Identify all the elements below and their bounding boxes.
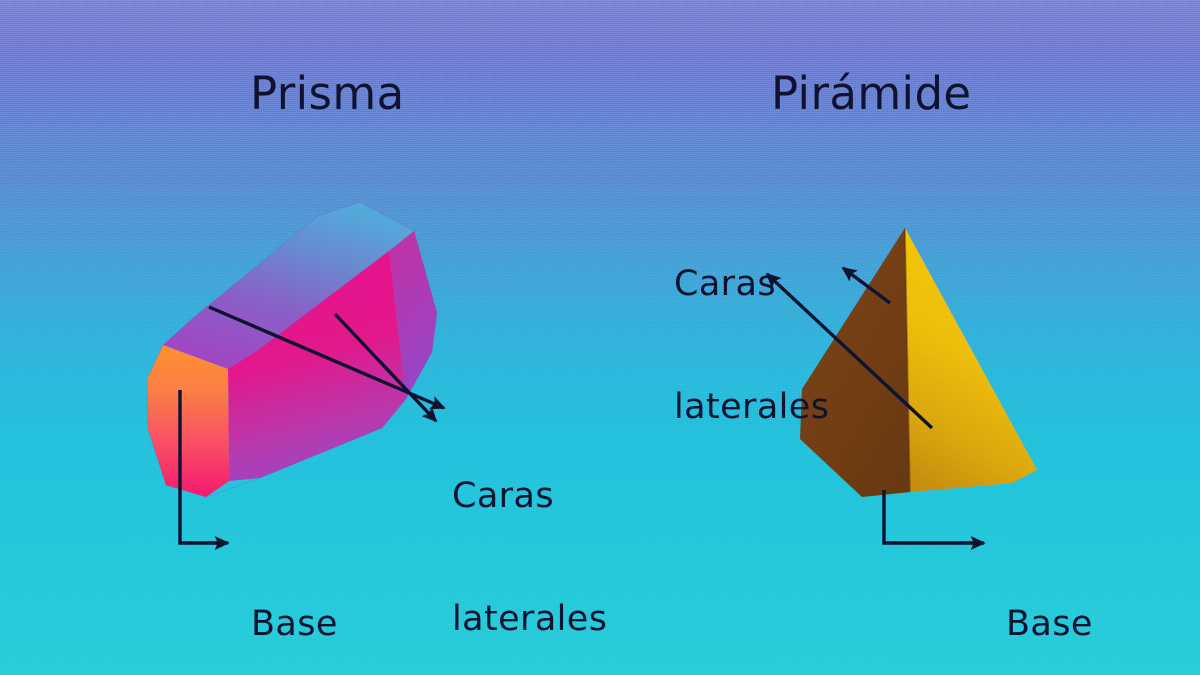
pyramid-caras-line-2: laterales [674,387,829,428]
diagram-canvas: Prisma Pirámide Caras laterales Base Car… [0,0,1200,675]
pyramid-right-face-grain [905,228,1037,492]
page-title-piramide: Pirámide [771,67,972,120]
prism-base-label: Base [251,521,338,675]
page-title-prisma: Prisma [250,67,405,120]
prism-caras-line-2: laterales [452,599,607,640]
pyramid-base-line-1: Base [1006,604,1093,645]
pyramid-figure [800,228,1037,497]
prism-base-line-1: Base [251,604,338,645]
pyramid-caras-laterales-label: Caras laterales [674,181,829,511]
pyramid-base-label: Base [1006,521,1093,675]
prism-base-face [147,345,229,497]
pyramid-caras-line-1: Caras [674,264,829,305]
prism-caras-line-1: Caras [452,476,607,517]
pyramid-base-connector [884,490,984,543]
prism-caras-laterales-label: Caras laterales [452,393,607,675]
prism-figure [147,202,437,497]
